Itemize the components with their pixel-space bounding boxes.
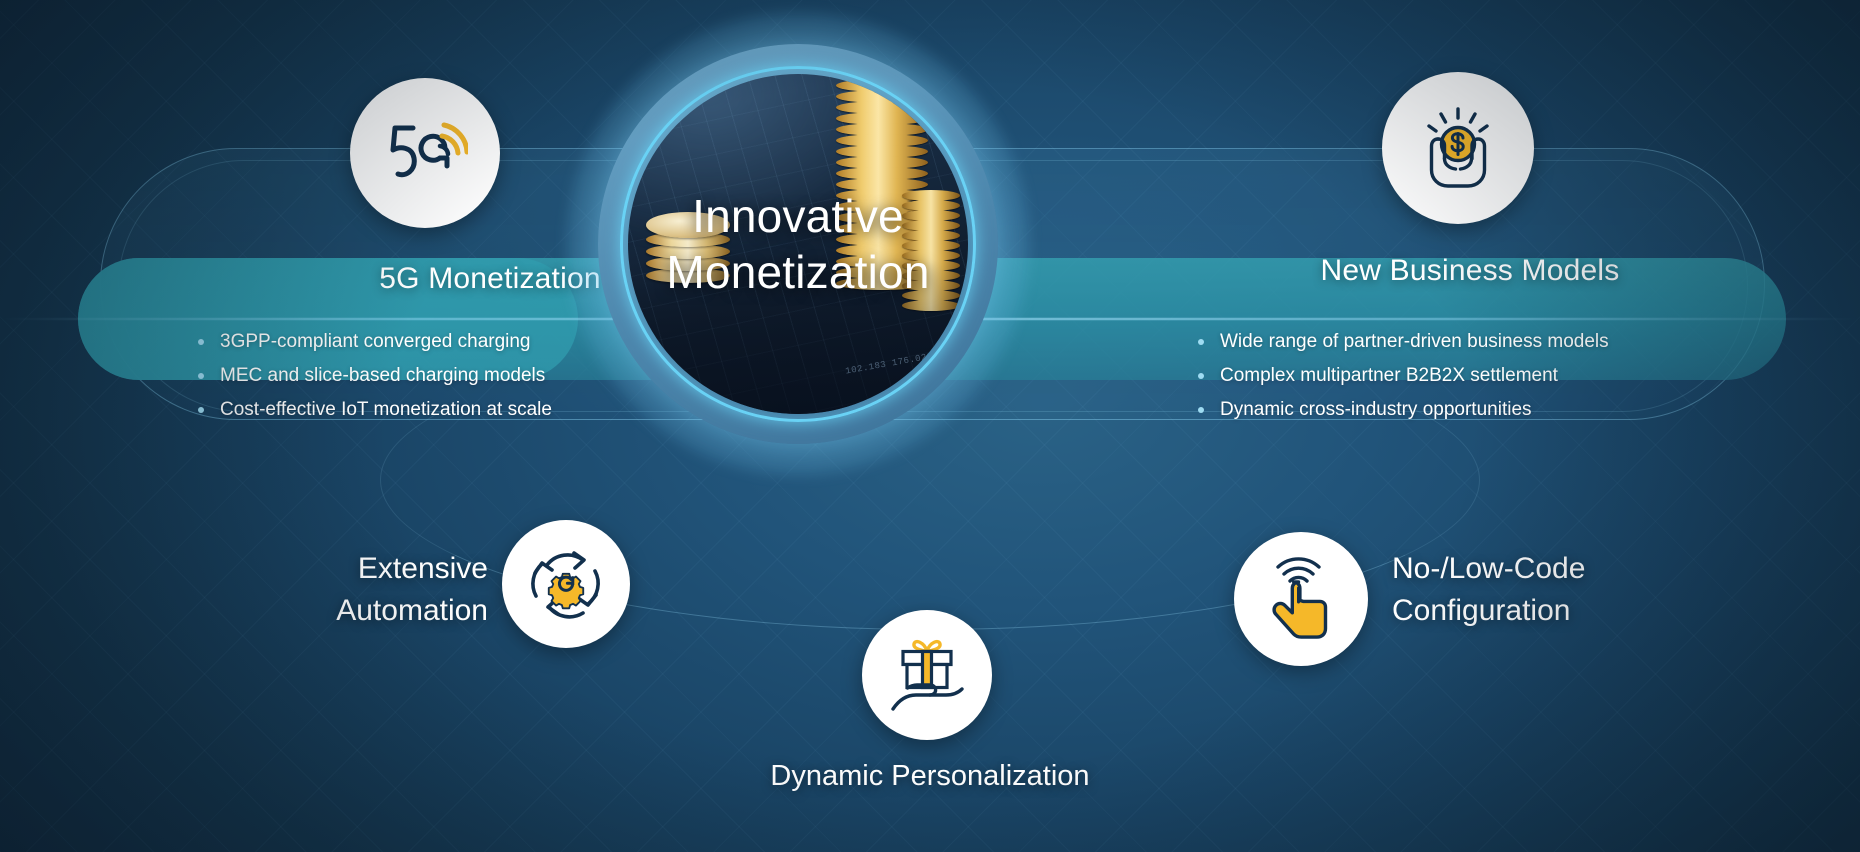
list-item: Complex multipartner B2B2X settlement bbox=[1190, 359, 1609, 393]
money-in-hands-icon bbox=[1412, 106, 1504, 190]
list-item: Wide range of partner-driven business mo… bbox=[1190, 325, 1609, 359]
gift-in-hand-icon bbox=[884, 635, 970, 715]
icon-bubble-no-low-code[interactable] bbox=[1234, 532, 1368, 666]
label-line-1: No-/Low-Code bbox=[1392, 548, 1652, 590]
center-title: Innovative Monetization bbox=[592, 38, 1004, 450]
label-extensive-automation: Extensive Automation bbox=[318, 548, 488, 632]
center-title-line1: Innovative bbox=[692, 188, 904, 244]
list-item: Dynamic cross-industry opportunities bbox=[1190, 393, 1609, 427]
infographic-canvas: 5G Monetization 3GPP-compliant converged… bbox=[0, 0, 1860, 852]
label-line-2: Configuration bbox=[1392, 590, 1652, 632]
column-title-new-business-models: New Business Models bbox=[1255, 254, 1685, 288]
gear-refresh-icon bbox=[525, 543, 607, 625]
label-line-1: Extensive bbox=[318, 548, 488, 590]
icon-bubble-extensive-automation[interactable] bbox=[502, 520, 630, 648]
icon-bubble-5g[interactable] bbox=[350, 78, 500, 228]
center-hero-circle: 102.183 176.023 Innovative Monetization bbox=[592, 38, 1004, 450]
list-item: MEC and slice-based charging models bbox=[190, 359, 552, 393]
tap-hand-icon bbox=[1260, 557, 1342, 641]
icon-bubble-dynamic-personalization[interactable] bbox=[862, 610, 992, 740]
bullet-list-new-business-models: Wide range of partner-driven business mo… bbox=[1190, 325, 1609, 427]
5g-icon bbox=[382, 120, 468, 186]
list-item: Cost-effective IoT monetization at scale bbox=[190, 393, 552, 427]
icon-bubble-new-business-models[interactable] bbox=[1382, 72, 1534, 224]
label-line-2: Automation bbox=[318, 590, 488, 632]
bullet-list-5g: 3GPP-compliant converged charging MEC an… bbox=[190, 325, 552, 427]
center-title-line2: Monetization bbox=[666, 244, 929, 300]
label-no-low-code-configuration: No-/Low-Code Configuration bbox=[1392, 548, 1652, 632]
list-item: 3GPP-compliant converged charging bbox=[190, 325, 552, 359]
label-dynamic-personalization: Dynamic Personalization bbox=[700, 755, 1160, 797]
